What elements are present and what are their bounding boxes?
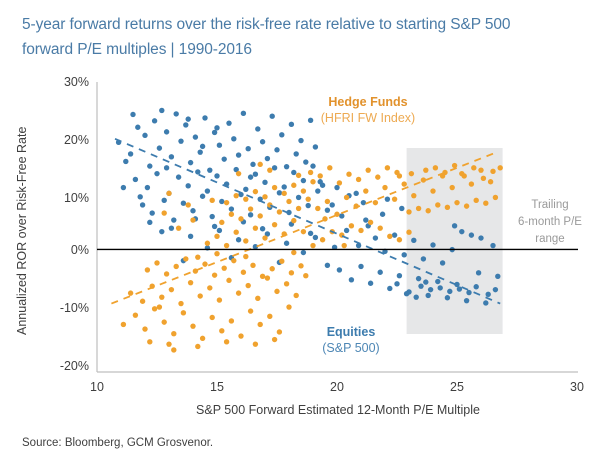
scatter-point bbox=[217, 297, 222, 302]
scatter-point bbox=[457, 286, 462, 291]
scatter-point bbox=[140, 202, 145, 207]
scatter-point bbox=[234, 230, 239, 235]
scatter-point bbox=[291, 218, 296, 223]
band-label-line2: 6-month P/E bbox=[518, 216, 582, 228]
scatter-point bbox=[248, 308, 253, 313]
scatter-point bbox=[430, 242, 435, 247]
scatter-point bbox=[296, 195, 301, 200]
scatter-point bbox=[243, 238, 248, 243]
scatter-point bbox=[495, 274, 500, 279]
scatter-point bbox=[142, 133, 147, 138]
scatter-point bbox=[421, 177, 426, 182]
scatter-point bbox=[272, 337, 277, 342]
scatter-point bbox=[178, 138, 183, 143]
scatter-point bbox=[159, 229, 164, 234]
scatter-point bbox=[493, 287, 498, 292]
scatter-point bbox=[152, 118, 157, 123]
scatter-point bbox=[236, 152, 241, 157]
scatter-point bbox=[416, 206, 421, 211]
scatter-point bbox=[440, 260, 445, 265]
scatter-point bbox=[224, 200, 229, 205]
scatter-point bbox=[169, 154, 174, 159]
scatter-point bbox=[310, 179, 315, 184]
scatter-point bbox=[246, 146, 251, 151]
scatter-point bbox=[282, 191, 287, 196]
scatter-point bbox=[308, 118, 313, 123]
scatter-point bbox=[325, 199, 330, 204]
scatter-point bbox=[166, 191, 171, 196]
scatter-point bbox=[298, 263, 303, 268]
scatter-point bbox=[157, 304, 162, 309]
scatter-point bbox=[394, 281, 399, 286]
scatter-point bbox=[423, 167, 428, 172]
scatter-point bbox=[171, 347, 176, 352]
scatter-point bbox=[315, 206, 320, 211]
scatter-point bbox=[262, 194, 267, 199]
scatter-point bbox=[469, 181, 474, 186]
x-tick-label: 10 bbox=[90, 380, 104, 394]
scatter-point bbox=[416, 276, 421, 281]
scatter-point bbox=[291, 183, 296, 188]
scatter-point bbox=[308, 170, 313, 175]
scatter-point bbox=[260, 226, 265, 231]
scatter-point bbox=[169, 287, 174, 292]
equities-sublabel: (S&P 500) bbox=[322, 341, 379, 355]
scatter-point bbox=[325, 263, 330, 268]
scatter-point bbox=[294, 151, 299, 156]
scatter-point bbox=[205, 241, 210, 246]
scatter-point bbox=[404, 291, 409, 296]
scatter-point bbox=[154, 171, 159, 176]
scatter-point bbox=[258, 213, 263, 218]
scatter-point bbox=[176, 174, 181, 179]
scatter-point bbox=[128, 290, 133, 295]
scatter-point bbox=[378, 225, 383, 230]
scatter-point bbox=[313, 144, 318, 149]
scatter-point bbox=[186, 202, 191, 207]
scatter-point bbox=[248, 174, 253, 179]
y-tick-label: 10% bbox=[64, 191, 89, 205]
scatter-point bbox=[272, 222, 277, 227]
scatter-point bbox=[366, 167, 371, 172]
scatter-point bbox=[243, 196, 248, 201]
scatter-point bbox=[349, 223, 354, 228]
scatter-point bbox=[411, 238, 416, 243]
scatter-point bbox=[318, 173, 323, 178]
scatter-point bbox=[303, 159, 308, 164]
scatter-point bbox=[368, 281, 373, 286]
scatter-point bbox=[159, 108, 164, 113]
scatter-point bbox=[397, 273, 402, 278]
scatter-point bbox=[147, 163, 152, 168]
scatter-point bbox=[219, 220, 224, 225]
scatter-point bbox=[406, 209, 411, 214]
scatter-point bbox=[243, 187, 248, 192]
scatter-point bbox=[483, 300, 488, 305]
scatter-point bbox=[265, 275, 270, 280]
scatter-point bbox=[166, 341, 171, 346]
scatter-point bbox=[243, 254, 248, 259]
scatter-point bbox=[190, 217, 195, 222]
scatter-point bbox=[188, 160, 193, 165]
scatter-point bbox=[260, 139, 265, 144]
scatter-point bbox=[435, 279, 440, 284]
scatter-point bbox=[414, 294, 419, 299]
scatter-point bbox=[188, 234, 193, 239]
scatter-point bbox=[142, 326, 147, 331]
scatter-point bbox=[164, 165, 169, 170]
trailing-pe-range-band bbox=[407, 148, 503, 334]
scatter-point bbox=[214, 251, 219, 256]
hedge-funds-sublabel: (HFRI FW Index) bbox=[321, 111, 415, 125]
scatter-point bbox=[224, 243, 229, 248]
scatter-point bbox=[363, 188, 368, 193]
scatter-point bbox=[241, 111, 246, 116]
scatter-point bbox=[200, 144, 205, 149]
scatter-point bbox=[195, 344, 200, 349]
hedge-funds-label: Hedge Funds bbox=[328, 95, 407, 109]
scatter-point bbox=[284, 241, 289, 246]
scatter-point bbox=[231, 258, 236, 263]
scatter-point bbox=[229, 206, 234, 211]
scatter-point bbox=[171, 217, 176, 222]
scatter-point bbox=[318, 179, 323, 184]
scatter-point bbox=[430, 188, 435, 193]
scatter-point bbox=[250, 263, 255, 268]
scatter-point bbox=[356, 177, 361, 182]
scatter-point bbox=[399, 206, 404, 211]
scatter-point bbox=[241, 270, 246, 275]
scatter-point bbox=[310, 163, 315, 168]
scatter-point bbox=[198, 149, 203, 154]
scatter-point bbox=[133, 312, 138, 317]
scatter-point bbox=[188, 280, 193, 285]
scatter-point bbox=[426, 208, 431, 213]
scatter-point bbox=[373, 200, 378, 205]
scatter-point bbox=[255, 126, 260, 131]
scatter-point bbox=[409, 171, 414, 176]
scatter-point bbox=[157, 145, 162, 150]
scatter-point bbox=[169, 225, 174, 230]
scatter-point bbox=[193, 134, 198, 139]
scatter-point bbox=[454, 200, 459, 205]
scatter-point bbox=[286, 199, 291, 204]
scatter-point bbox=[190, 208, 195, 213]
scatter-point bbox=[274, 147, 279, 152]
scatter-point bbox=[433, 165, 438, 170]
scatter-point bbox=[481, 176, 486, 181]
scatter-point bbox=[308, 231, 313, 236]
scatter-point bbox=[498, 165, 503, 170]
scatter-point bbox=[272, 165, 277, 170]
y-tick-label: -20% bbox=[60, 359, 89, 373]
scatter-point bbox=[344, 228, 349, 233]
scatter-point bbox=[138, 194, 143, 199]
scatter-point bbox=[402, 252, 407, 257]
scatter-point bbox=[301, 229, 306, 234]
scatter-point bbox=[426, 293, 431, 298]
scatter-point bbox=[493, 195, 498, 200]
scatter-point bbox=[294, 293, 299, 298]
scatter-point bbox=[315, 188, 320, 193]
scatter-point bbox=[334, 185, 339, 190]
scatter-point bbox=[296, 206, 301, 211]
scatter-point bbox=[262, 235, 267, 240]
scatter-point bbox=[284, 164, 289, 169]
scatter-point bbox=[392, 196, 397, 201]
scatter-point bbox=[181, 201, 186, 206]
scatter-point bbox=[387, 286, 392, 291]
scatter-point bbox=[428, 287, 433, 292]
scatter-point bbox=[229, 212, 234, 217]
scatter-point bbox=[236, 171, 241, 176]
scatter-point bbox=[130, 112, 135, 117]
scatter-point bbox=[147, 339, 152, 344]
scatter-point bbox=[205, 188, 210, 193]
scatter-point bbox=[258, 162, 263, 167]
scatter-point bbox=[373, 235, 378, 240]
scatter-point bbox=[327, 165, 332, 170]
scatter-point bbox=[445, 295, 450, 300]
scatter-point bbox=[246, 283, 251, 288]
x-tick-label: 15 bbox=[210, 380, 224, 394]
scatter-point bbox=[250, 162, 255, 167]
scatter-point bbox=[195, 254, 200, 259]
scatter-point bbox=[258, 322, 263, 327]
scatter-point bbox=[186, 183, 191, 188]
scatter-point bbox=[238, 216, 243, 221]
scatter-point bbox=[226, 278, 231, 283]
scatter-point bbox=[217, 143, 222, 148]
x-tick-label: 30 bbox=[570, 380, 584, 394]
scatter-point bbox=[358, 228, 363, 233]
scatter-point bbox=[296, 173, 301, 178]
scatter-point bbox=[344, 195, 349, 200]
scatter-point bbox=[320, 237, 325, 242]
scatter-point bbox=[387, 234, 392, 239]
scatter-point bbox=[133, 177, 138, 182]
scatter-point bbox=[176, 225, 181, 230]
scatter-point bbox=[159, 294, 164, 299]
scatter-point bbox=[385, 165, 390, 170]
scatter-point bbox=[354, 191, 359, 196]
scatter-point bbox=[214, 125, 219, 130]
scatter-point bbox=[337, 267, 342, 272]
scatter-point bbox=[171, 331, 176, 336]
scatter-point bbox=[270, 114, 275, 119]
scatter-point bbox=[253, 172, 258, 177]
scatter-point bbox=[253, 341, 258, 346]
scatter-point bbox=[325, 207, 330, 212]
scatter-point bbox=[255, 296, 260, 301]
scatter-point bbox=[284, 281, 289, 286]
scatter-point bbox=[183, 256, 188, 261]
chart-canvas: 30% 20% 10% 0% -10% -20% 10 15 20 25 30 … bbox=[0, 0, 600, 463]
scatter-point bbox=[330, 202, 335, 207]
scatter-point bbox=[445, 205, 450, 210]
band-label-line3: range bbox=[535, 233, 564, 245]
scatter-point bbox=[210, 198, 215, 203]
scatter-point bbox=[394, 170, 399, 175]
scatter-point bbox=[128, 151, 133, 156]
x-axis-title: S&P 500 Forward Estimated 12-Month P/E M… bbox=[196, 403, 480, 417]
scatter-point bbox=[469, 232, 474, 237]
scatter-point bbox=[236, 237, 241, 242]
scatter-point bbox=[207, 167, 212, 172]
y-tick-label: 20% bbox=[64, 133, 89, 147]
y-axis-title: Annualized ROR over Risk-Free Rate bbox=[15, 127, 29, 335]
scatter-point bbox=[147, 220, 152, 225]
y-tick-label: -10% bbox=[60, 301, 89, 315]
band-label-line1: Trailing bbox=[531, 199, 568, 211]
scatter-point bbox=[349, 277, 354, 282]
scatter-point bbox=[486, 292, 491, 297]
scatter-point bbox=[279, 259, 284, 264]
scatter-point bbox=[212, 224, 217, 229]
scatter-point bbox=[464, 298, 469, 303]
scatter-point bbox=[178, 301, 183, 306]
scatter-point bbox=[236, 290, 241, 295]
scatter-point bbox=[162, 198, 167, 203]
scatter-point bbox=[279, 132, 284, 137]
scatter-point bbox=[219, 328, 224, 333]
scatter-point bbox=[478, 167, 483, 172]
scatter-point bbox=[253, 189, 258, 194]
scatter-point bbox=[478, 235, 483, 240]
scatter-point bbox=[186, 116, 191, 121]
scatter-point bbox=[306, 196, 311, 201]
scatter-point bbox=[219, 199, 224, 204]
scatter-point bbox=[212, 272, 217, 277]
scatter-point bbox=[471, 165, 476, 170]
scatter-point bbox=[464, 203, 469, 208]
scatter-point bbox=[222, 156, 227, 161]
scatter-point bbox=[222, 265, 227, 270]
scatter-point bbox=[337, 180, 342, 185]
scatter-point bbox=[490, 243, 495, 248]
scatter-point bbox=[212, 130, 217, 135]
scatter-point bbox=[488, 179, 493, 184]
scatter-point bbox=[392, 232, 397, 237]
scatter-point bbox=[154, 260, 159, 265]
scatter-point bbox=[286, 304, 291, 309]
scatter-point bbox=[339, 213, 344, 218]
scatter-point bbox=[450, 185, 455, 190]
scatter-point bbox=[289, 122, 294, 127]
scatter-point bbox=[123, 159, 128, 164]
scatter-point bbox=[459, 229, 464, 234]
scatter-chart-svg: 30% 20% 10% 0% -10% -20% 10 15 20 25 30 … bbox=[0, 0, 600, 463]
scatter-point bbox=[214, 234, 219, 239]
scatter-point bbox=[262, 180, 267, 185]
scatter-point bbox=[474, 284, 479, 289]
scatter-point bbox=[224, 339, 229, 344]
scatter-point bbox=[291, 170, 296, 175]
scatter-point bbox=[162, 210, 167, 215]
scatter-point bbox=[248, 206, 253, 211]
scatter-point bbox=[466, 290, 471, 295]
scatter-point bbox=[435, 202, 440, 207]
scatter-point bbox=[483, 201, 488, 206]
scatter-point bbox=[277, 209, 282, 214]
scatter-point bbox=[378, 270, 383, 275]
scatter-point bbox=[195, 169, 200, 174]
scatter-point bbox=[164, 271, 169, 276]
scatter-point bbox=[174, 111, 179, 116]
scatter-point bbox=[301, 188, 306, 193]
scatter-point bbox=[402, 181, 407, 186]
scatter-point bbox=[267, 167, 272, 172]
scatter-point bbox=[210, 214, 215, 219]
scatter-point bbox=[474, 198, 479, 203]
scatter-point bbox=[277, 190, 282, 195]
scatter-point bbox=[358, 264, 363, 269]
scatter-point bbox=[406, 230, 411, 235]
scatter-point bbox=[380, 212, 385, 217]
scatter-point bbox=[265, 156, 270, 161]
scatter-point bbox=[346, 172, 351, 177]
scatter-point bbox=[248, 212, 253, 217]
scatter-point bbox=[282, 184, 287, 189]
scatter-point bbox=[164, 129, 169, 134]
x-tick-label: 25 bbox=[450, 380, 464, 394]
scatter-point bbox=[198, 293, 203, 298]
scatter-point bbox=[135, 125, 140, 130]
scatter-point bbox=[476, 270, 481, 275]
scatter-point bbox=[226, 120, 231, 125]
scatter-point bbox=[145, 267, 150, 272]
scatter-point bbox=[418, 283, 423, 288]
scatter-point bbox=[301, 250, 306, 255]
scatter-point bbox=[238, 333, 243, 338]
scatter-point bbox=[200, 194, 205, 199]
scatter-point bbox=[190, 323, 195, 328]
scatter-point bbox=[229, 318, 234, 323]
scatter-point bbox=[438, 285, 443, 290]
scatter-point bbox=[382, 185, 387, 190]
scatter-point bbox=[462, 173, 467, 178]
scatter-point bbox=[361, 200, 366, 205]
scatter-point bbox=[183, 122, 188, 127]
scatter-point bbox=[277, 329, 282, 334]
scatter-point bbox=[253, 225, 258, 230]
scatter-point bbox=[342, 243, 347, 248]
scatter-point bbox=[310, 243, 315, 248]
scatter-point bbox=[234, 193, 239, 198]
scatter-point bbox=[174, 264, 179, 269]
scatter-point bbox=[162, 319, 167, 324]
scatter-point bbox=[214, 173, 219, 178]
scatter-point bbox=[423, 279, 428, 284]
scatter-point bbox=[181, 310, 186, 315]
scatter-point bbox=[368, 220, 373, 225]
scatter-point bbox=[313, 235, 318, 240]
scatter-point bbox=[150, 210, 155, 215]
scatter-point bbox=[291, 250, 296, 255]
x-tick-label: 20 bbox=[330, 380, 344, 394]
scatter-point bbox=[270, 266, 275, 271]
scatter-point bbox=[298, 138, 303, 143]
scatter-point bbox=[363, 217, 368, 222]
scatter-point bbox=[375, 174, 380, 179]
scatter-point bbox=[200, 336, 205, 341]
scatter-point bbox=[306, 203, 311, 208]
scatter-point bbox=[421, 256, 426, 261]
scatter-point bbox=[301, 178, 306, 183]
scatter-point bbox=[272, 185, 277, 190]
scatter-point bbox=[121, 322, 126, 327]
scatter-point bbox=[397, 237, 402, 242]
